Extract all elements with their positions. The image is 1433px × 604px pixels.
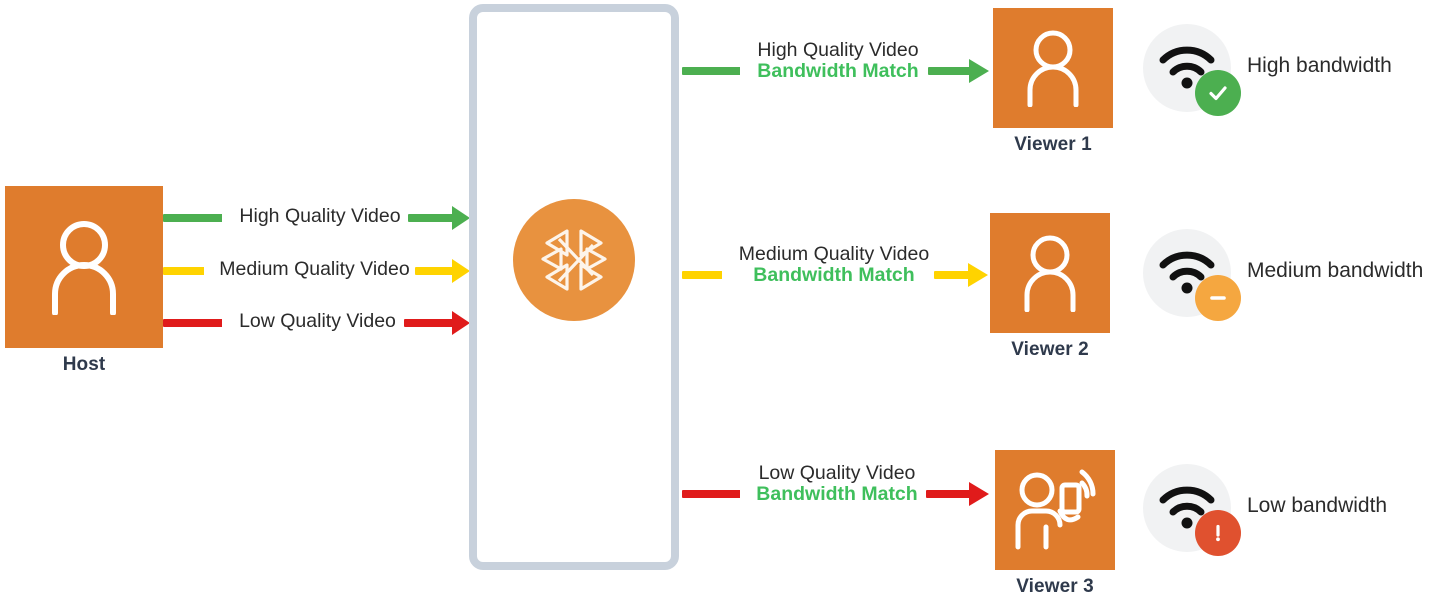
host-label: Host <box>5 354 163 376</box>
egress-label-medium: Medium Quality Video Bandwidth Match <box>722 244 946 286</box>
exclamation-badge-icon <box>1195 510 1241 556</box>
bandwidth-status-medium-label: Medium bandwidth <box>1247 259 1423 283</box>
ingest-line-medium-2 <box>415 267 456 275</box>
viewer-3-node[interactable] <box>995 450 1115 570</box>
ingest-label-low: Low Quality Video <box>222 311 413 332</box>
mobile-user-icon <box>1012 469 1098 551</box>
egress-line-medium <box>682 271 724 279</box>
egress-line-medium-2 <box>934 271 972 279</box>
viewer-3-label: Viewer 3 <box>995 576 1115 598</box>
ingest-label-medium: Medium Quality Video <box>204 259 425 280</box>
egress-line-low-2 <box>926 490 973 498</box>
ingest-label-high: High Quality Video <box>222 206 418 227</box>
minus-badge-icon <box>1195 275 1241 321</box>
ingest-arrow-medium <box>452 259 470 283</box>
egress-label-low: Low Quality Video Bandwidth Match <box>740 463 934 505</box>
viewer-1-label: Viewer 1 <box>993 134 1113 156</box>
ivs-service-icon[interactable] <box>513 199 635 321</box>
user-icon <box>1024 29 1082 107</box>
egress-arrow-medium <box>968 263 988 287</box>
bandwidth-status-low: Low bandwidth <box>1143 464 1433 564</box>
ingest-line-low-2 <box>404 319 456 327</box>
egress-arrow-high <box>969 59 989 83</box>
viewer-2-label: Viewer 2 <box>990 339 1110 361</box>
egress-line-high-2 <box>928 67 973 75</box>
ingest-arrow-high <box>452 206 470 230</box>
ingest-line-low <box>163 319 225 327</box>
bandwidth-status-high-label: High bandwidth <box>1247 54 1392 78</box>
viewer-2-node[interactable] <box>990 213 1110 333</box>
user-icon <box>1021 234 1079 312</box>
bandwidth-status-high: High bandwidth <box>1143 24 1433 124</box>
user-icon <box>47 219 121 315</box>
viewer-1-node[interactable] <box>993 8 1113 128</box>
host-node[interactable] <box>5 186 163 348</box>
diagram-canvas: Host High Quality Video Medium Quality V… <box>0 0 1433 604</box>
check-badge-icon <box>1195 70 1241 116</box>
egress-label-high: High Quality Video Bandwidth Match <box>740 40 936 82</box>
bandwidth-status-low-label: Low bandwidth <box>1247 494 1387 518</box>
bandwidth-status-medium: Medium bandwidth <box>1143 229 1433 329</box>
ingest-line-high-2 <box>408 214 456 222</box>
ingest-arrow-low <box>452 311 470 335</box>
egress-arrow-low <box>969 482 989 506</box>
